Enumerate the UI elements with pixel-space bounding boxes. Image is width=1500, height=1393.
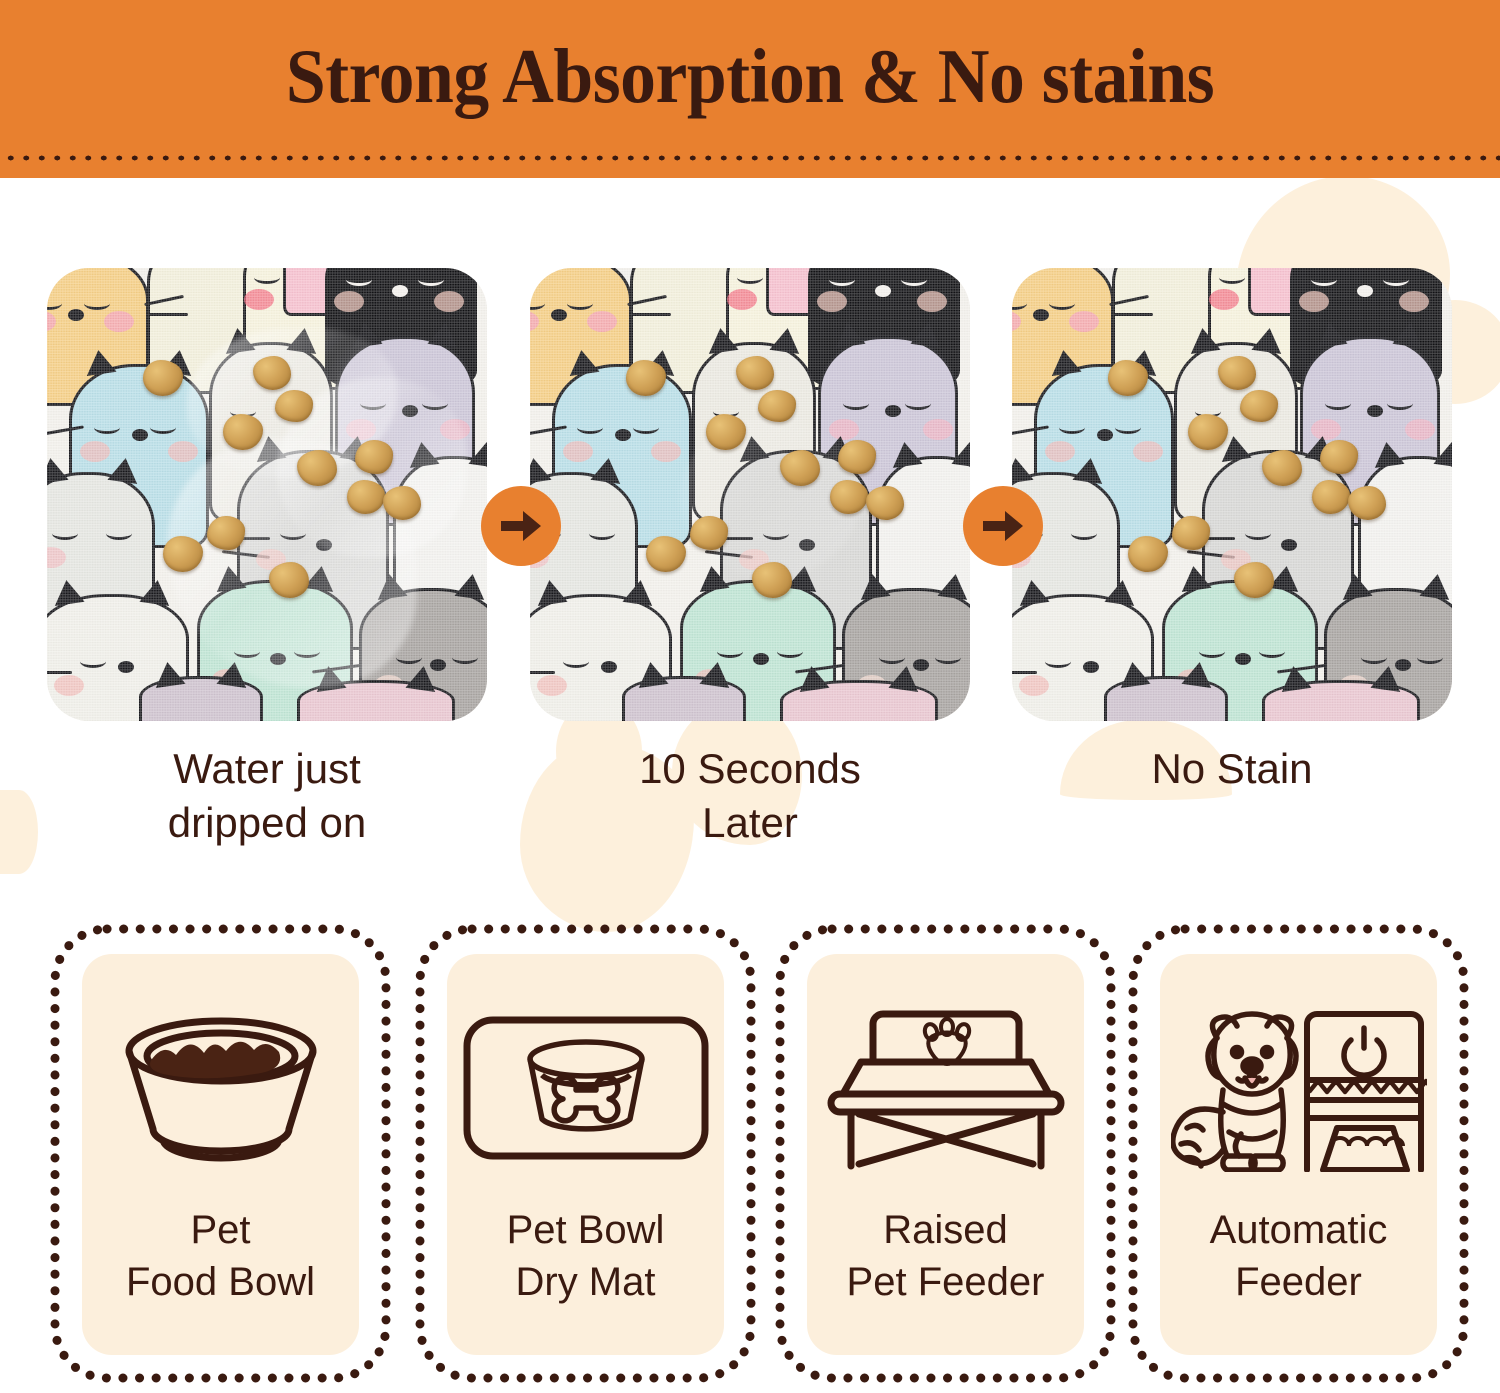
- arrow-right-icon: [499, 506, 543, 546]
- use-case-label: Raised Pet Feeder: [847, 1204, 1045, 1308]
- kibble: [1234, 562, 1274, 598]
- kibble: [275, 390, 313, 422]
- step-arrow-2: [963, 486, 1043, 566]
- use-case-card-pet-bowl-dry-mat[interactable]: Pet Bowl Dry Mat: [413, 922, 758, 1385]
- demo-photo-drying: [530, 268, 970, 721]
- kibble: [1262, 450, 1302, 486]
- kibble: [253, 356, 291, 390]
- kibble: [752, 562, 792, 598]
- card-body: Automatic Feeder: [1160, 954, 1437, 1355]
- demo-photo-dry: [1012, 268, 1452, 721]
- card-body: Raised Pet Feeder: [807, 954, 1084, 1355]
- page-title: Strong Absorption & No stains: [53, 33, 1448, 119]
- cat-pattern-mat: [1012, 268, 1452, 721]
- demo-caption-1: Water just dripped on: [47, 742, 487, 850]
- kibble: [780, 450, 820, 486]
- kibble: [1218, 356, 1256, 390]
- paw-watermark: [0, 790, 38, 874]
- kibble: [736, 356, 774, 390]
- use-case-card-pet-food-bowl[interactable]: Pet Food Bowl: [48, 922, 393, 1385]
- kibble: [269, 562, 309, 598]
- infographic-page: Strong Absorption & No stains: [0, 0, 1500, 1393]
- kibble: [690, 516, 728, 550]
- kibble: [207, 516, 245, 550]
- demo-caption-2: 10 Seconds Later: [530, 742, 970, 850]
- kibble: [1320, 440, 1358, 474]
- pet-bowl-dry-mat-icon: [462, 994, 710, 1182]
- kibble: [866, 486, 904, 520]
- step-arrow-1: [481, 486, 561, 566]
- use-case-card-automatic-feeder[interactable]: Automatic Feeder: [1126, 922, 1471, 1385]
- card-body: Pet Bowl Dry Mat: [447, 954, 724, 1355]
- kibble: [758, 390, 796, 422]
- cat-pattern-mat: [530, 268, 970, 721]
- cat-pattern-mat: [47, 268, 487, 721]
- kibble: [1240, 390, 1278, 422]
- kibble: [297, 450, 337, 486]
- automatic-feeder-icon: [1171, 994, 1427, 1182]
- use-case-cards: Pet Food Bowl: [0, 922, 1500, 1387]
- kibble: [1172, 516, 1210, 550]
- arrow-right-icon: [981, 506, 1025, 546]
- demo-caption-3: No Stain: [1012, 742, 1452, 796]
- demo-photo-wet: [47, 268, 487, 721]
- kibble: [838, 440, 876, 474]
- banner-dotted-divider: [0, 152, 1500, 164]
- absorption-demo-row: [0, 268, 1500, 728]
- card-body: Pet Food Bowl: [82, 954, 359, 1355]
- kibble: [1348, 486, 1386, 520]
- kibble: [355, 440, 393, 474]
- pet-food-bowl-icon: [101, 994, 341, 1182]
- kibble: [383, 486, 421, 520]
- raised-pet-feeder-icon: [821, 994, 1071, 1182]
- header-banner: Strong Absorption & No stains: [0, 0, 1500, 178]
- use-case-card-raised-pet-feeder[interactable]: Raised Pet Feeder: [773, 922, 1118, 1385]
- use-case-label: Automatic Feeder: [1210, 1204, 1388, 1308]
- use-case-label: Pet Food Bowl: [126, 1204, 315, 1308]
- use-case-label: Pet Bowl Dry Mat: [507, 1204, 665, 1308]
